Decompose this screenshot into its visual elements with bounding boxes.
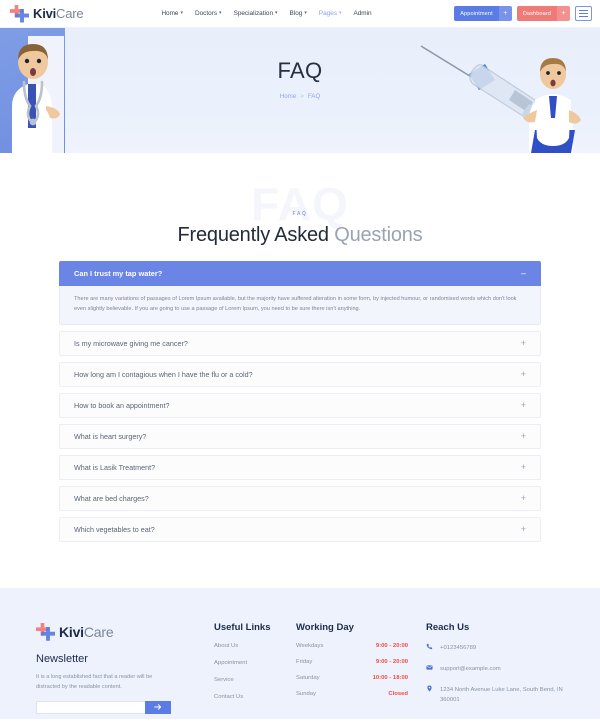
faq-item: What is Lasik Treatment? + (59, 455, 541, 480)
chevron-down-icon: ▾ (275, 11, 278, 16)
working-day-label: Weekdays (296, 643, 323, 649)
faq-question-text: Which vegetables to eat? (74, 525, 155, 534)
logo-text: KiviCare (33, 6, 83, 21)
faq-question-text: What are bed charges? (74, 494, 149, 503)
working-hours-row: Saturday 10:00 - 18:00 (296, 675, 408, 681)
faq-question-text: How long am I contagious when I have the… (74, 370, 253, 379)
faq-item: What are bed charges? + (59, 486, 541, 511)
send-arrow-icon (154, 703, 162, 711)
footer-link-contact-us[interactable]: Contact Us (214, 694, 296, 700)
faq-answer-text: There are many variations of passages of… (74, 294, 526, 315)
faq-item: How to book an appointment? + (59, 393, 541, 418)
plus-icon[interactable]: + (499, 6, 512, 21)
faq-accordion-list: Can I trust my tap water? – There are ma… (59, 261, 541, 542)
working-hours-row: Sunday Closed (296, 691, 408, 697)
working-day-heading: Working Day (296, 622, 426, 633)
site-footer: KiviCare Newsletter It is a long establi… (0, 588, 600, 719)
reach-phone-text: +0123456789 (440, 643, 476, 653)
plus-icon[interactable]: + (521, 494, 526, 503)
footer-useful-links-column: Useful Links About Us Appointment Servic… (214, 622, 296, 719)
appointment-button[interactable]: Appointment + (454, 6, 512, 21)
faq-question-toggle[interactable]: What is heart surgery? + (59, 424, 541, 449)
faq-question-toggle[interactable]: What are bed charges? + (59, 486, 541, 511)
reach-email-text: support@example.com (440, 664, 501, 674)
faq-question-text: What is heart surgery? (74, 432, 146, 441)
faq-section: FAQ FAQ Frequently Asked Questions Can I… (0, 153, 600, 588)
working-day-time: Closed (388, 691, 408, 697)
newsletter-form (36, 701, 171, 714)
breadcrumb-item-current: FAQ (308, 93, 320, 100)
faq-question-text: How to book an appointment? (74, 401, 170, 410)
faq-title-light: Questions (334, 224, 422, 246)
working-day-label: Saturday (296, 675, 320, 681)
faq-answer-panel: There are many variations of passages of… (59, 286, 541, 325)
logo-text-secondary: Care (56, 6, 83, 21)
medical-cross-logo-icon (10, 4, 30, 24)
footer-newsletter-column: KiviCare Newsletter It is a long establi… (36, 622, 214, 719)
main-navigation: Home▾ Doctors▾ Specialization▾ Blog▾ Pag… (161, 10, 371, 17)
plus-icon[interactable]: + (521, 370, 526, 379)
nav-label: Specialization (234, 10, 273, 17)
hero-banner: FAQ Home > FAQ (0, 28, 600, 153)
newsletter-submit-button[interactable] (145, 701, 171, 714)
footer-link-appointment[interactable]: Appointment (214, 660, 296, 666)
plus-icon[interactable]: + (521, 432, 526, 441)
mail-icon (426, 664, 434, 672)
chevron-down-icon: ▾ (304, 11, 307, 16)
nav-item-home[interactable]: Home▾ (161, 10, 183, 17)
working-day-time: 10:00 - 18:00 (373, 675, 408, 681)
nav-label: Home (161, 10, 178, 17)
chevron-down-icon: ▾ (339, 11, 342, 16)
nav-item-pages[interactable]: Pages▾ (319, 10, 342, 17)
nav-item-blog[interactable]: Blog▾ (290, 10, 307, 17)
faq-question-text: What is Lasik Treatment? (74, 463, 155, 472)
working-day-time: 9:00 - 20:00 (376, 643, 408, 649)
footer-reach-us-column: Reach Us +0123456789 support@example.com… (426, 622, 564, 719)
reach-us-heading: Reach Us (426, 622, 564, 633)
nav-label: Admin (353, 10, 371, 17)
faq-section-header: FAQ FAQ Frequently Asked Questions (0, 185, 600, 247)
reach-address-text: 1234 North Avenue Luke Lane, South Bend,… (440, 685, 564, 705)
appointment-button-label: Appointment (454, 11, 499, 17)
faq-question-toggle[interactable]: What is Lasik Treatment? + (59, 455, 541, 480)
faq-question-toggle[interactable]: How to book an appointment? + (59, 393, 541, 418)
footer-working-day-column: Working Day Weekdays 9:00 - 20:00 Friday… (296, 622, 426, 719)
working-hours-row: Weekdays 9:00 - 20:00 (296, 643, 408, 649)
working-hours-row: Friday 9:00 - 20:00 (296, 659, 408, 665)
faq-question-toggle[interactable]: Is my microwave giving me cancer? + (59, 331, 541, 356)
nav-item-admin[interactable]: Admin (353, 10, 371, 17)
newsletter-heading: Newsletter (36, 653, 214, 665)
reach-address-row[interactable]: 1234 North Avenue Luke Lane, South Bend,… (426, 685, 564, 705)
site-logo[interactable]: KiviCare (10, 4, 83, 24)
medical-cross-logo-icon (36, 622, 56, 642)
footer-logo-text: KiviCare (59, 624, 113, 640)
header-actions: Appointment + Dashboard + (454, 6, 592, 21)
working-day-time: 9:00 - 20:00 (376, 659, 408, 665)
footer-link-about-us[interactable]: About Us (214, 643, 296, 649)
faq-question-text: Can I trust my tap water? (74, 269, 162, 278)
footer-logo-secondary: Care (84, 624, 114, 640)
chevron-down-icon: ▾ (181, 11, 184, 16)
newsletter-description: It is a long established fact that a rea… (36, 672, 164, 692)
plus-icon[interactable]: + (521, 339, 526, 348)
footer-logo[interactable]: KiviCare (36, 622, 214, 642)
faq-item: Which vegetables to eat? + (59, 517, 541, 542)
nav-item-specialization[interactable]: Specialization▾ (234, 10, 278, 17)
dashboard-button-label: Dashboard (517, 11, 557, 17)
site-header: KiviCare Home▾ Doctors▾ Specialization▾ … (0, 0, 600, 28)
chevron-down-icon: ▾ (219, 11, 222, 16)
plus-icon[interactable]: + (557, 6, 570, 21)
faq-item: How long am I contagious when I have the… (59, 362, 541, 387)
reach-email-row[interactable]: support@example.com (426, 664, 564, 674)
faq-eyebrow-label: FAQ (0, 185, 600, 217)
faq-question-toggle[interactable]: Which vegetables to eat? + (59, 517, 541, 542)
logo-text-primary: Kivi (33, 6, 56, 21)
faq-question-toggle[interactable]: How long am I contagious when I have the… (59, 362, 541, 387)
faq-item: Can I trust my tap water? – There are ma… (59, 261, 541, 325)
useful-links-heading: Useful Links (214, 622, 296, 633)
faq-title-strong: Frequently Asked (178, 224, 329, 246)
working-day-label: Friday (296, 659, 312, 665)
faq-question-text: Is my microwave giving me cancer? (74, 339, 188, 348)
faq-question-toggle[interactable]: Can I trust my tap water? – (59, 261, 541, 286)
breadcrumb-separator-icon: > (300, 93, 304, 100)
nav-item-doctors[interactable]: Doctors▾ (195, 10, 222, 17)
newsletter-email-input[interactable] (36, 701, 145, 714)
reach-phone-row[interactable]: +0123456789 (426, 643, 564, 653)
nav-label: Blog (290, 10, 303, 17)
plus-icon[interactable]: + (521, 401, 526, 410)
location-pin-icon (426, 685, 434, 693)
hamburger-menu-icon[interactable] (575, 6, 592, 21)
breadcrumb-item-home[interactable]: Home (280, 93, 297, 100)
faq-item: Is my microwave giving me cancer? + (59, 331, 541, 356)
phone-icon (426, 643, 434, 651)
faq-item: What is heart surgery? + (59, 424, 541, 449)
plus-icon[interactable]: + (521, 525, 526, 534)
nav-label: Pages (319, 10, 337, 17)
plus-icon[interactable]: + (521, 463, 526, 472)
dashboard-button[interactable]: Dashboard + (517, 6, 570, 21)
nav-label: Doctors (195, 10, 217, 17)
minus-icon[interactable]: – (521, 269, 526, 278)
footer-logo-primary: Kivi (59, 624, 84, 640)
working-day-label: Sunday (296, 691, 316, 697)
footer-link-service[interactable]: Service (214, 677, 296, 683)
faq-section-title: Frequently Asked Questions (0, 224, 600, 247)
doctor-with-syringe-illustration (411, 34, 586, 153)
